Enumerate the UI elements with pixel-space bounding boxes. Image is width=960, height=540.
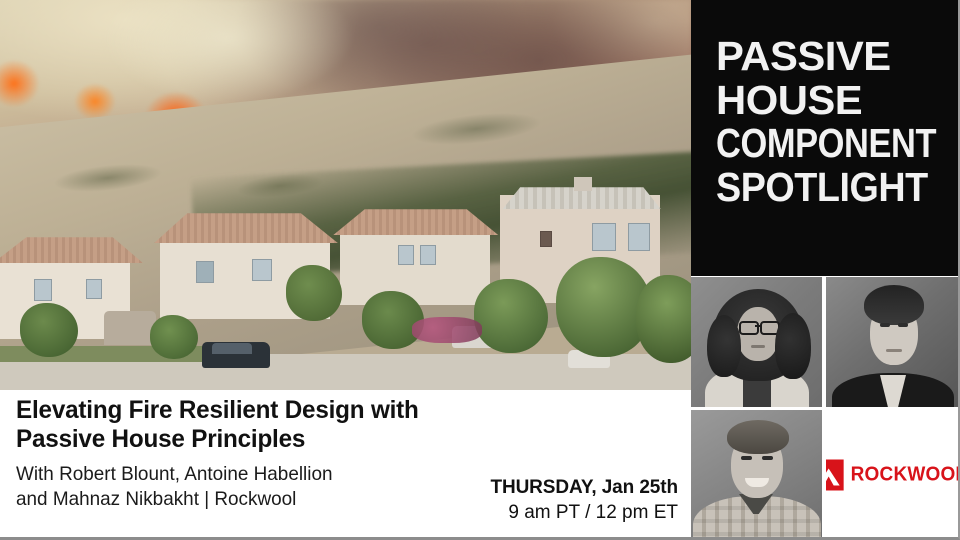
portrait-eye [762, 456, 773, 460]
speaker-photo-2 [826, 277, 960, 407]
glasses-bridge [755, 325, 760, 327]
series-title-line-3: COMPONENT [716, 125, 913, 163]
rockwool-wordmark: ROCKWOOL [851, 464, 960, 487]
house-left-window [252, 259, 272, 281]
garage-door [104, 311, 156, 345]
house-large-window [628, 223, 650, 251]
shrub [474, 279, 548, 353]
portrait-hair [727, 420, 789, 454]
house-large-window [592, 223, 616, 251]
suv-window [212, 343, 252, 354]
portrait-hair-side [775, 313, 811, 379]
speaker-photo-grid: ROCKWOOL [691, 277, 960, 540]
presenter-line-1: With Robert Blount, Antoine Habellion [16, 462, 453, 487]
house-mid [340, 231, 490, 305]
schedule-time: 9 am PT / 12 pm ET [490, 500, 678, 526]
portrait-eye [880, 323, 890, 327]
portrait-glasses [739, 321, 759, 335]
speaker-photo-3 [691, 410, 822, 540]
shrub [362, 291, 424, 349]
rockwool-logo: ROCKWOOL [826, 460, 960, 491]
presenter-list: With Robert Blount, Antoine Habellion an… [16, 462, 453, 512]
portrait-eye [741, 456, 752, 460]
portrait-mouth [886, 349, 902, 352]
house-far-left-roof [0, 237, 148, 263]
headline-line-1: Elevating Fire Resilient Design with [16, 396, 520, 425]
shrub [150, 315, 198, 359]
house-far-left-window [34, 279, 52, 301]
house-mid-roof [326, 209, 502, 235]
shrub [20, 303, 78, 357]
series-title-line-2: HOUSE [716, 82, 955, 120]
house-large-window [540, 231, 552, 247]
schedule-block: THURSDAY, Jan 25th 9 am PT / 12 pm ET [490, 476, 678, 526]
series-title-line-4: SPOTLIGHT [716, 169, 931, 207]
webinar-promo-poster: PASSIVE HOUSE COMPONENT SPOTLIGHT [0, 0, 960, 540]
portrait-eye [898, 323, 908, 327]
suburban-neighborhood [0, 187, 691, 390]
caption-band: Elevating Fire Resilient Design with Pas… [0, 390, 691, 540]
house-left-window [196, 261, 214, 283]
shrub [636, 275, 691, 363]
schedule-day: THURSDAY, Jan 25th [490, 476, 678, 501]
speaker-photo-1 [691, 277, 822, 407]
series-title-card: PASSIVE HOUSE COMPONENT SPOTLIGHT [691, 0, 960, 276]
rockwool-mark-icon [826, 460, 844, 491]
house-far-left-window [86, 279, 102, 299]
portrait-mouth [751, 345, 765, 348]
flowering-hedge [412, 317, 482, 343]
portrait-hair-side [707, 315, 741, 377]
webinar-headline: Elevating Fire Resilient Design with Pas… [16, 396, 520, 455]
house-mid-window [398, 245, 414, 265]
series-title-line-1: PASSIVE [716, 38, 955, 76]
house-left-roof [148, 213, 344, 243]
house-mid-window [420, 245, 436, 265]
shrub [286, 265, 342, 321]
portrait-hair [864, 285, 924, 325]
hero-wildfire-photo [0, 0, 691, 390]
presenter-line-2: and Mahnaz Nikbakht | Rockwool [16, 487, 453, 512]
chimney [574, 177, 592, 191]
sponsor-logo-cell: ROCKWOOL [826, 410, 960, 540]
headline-line-2: Passive House Principles [16, 425, 520, 454]
series-title: PASSIVE HOUSE COMPONENT SPOTLIGHT [716, 38, 950, 207]
